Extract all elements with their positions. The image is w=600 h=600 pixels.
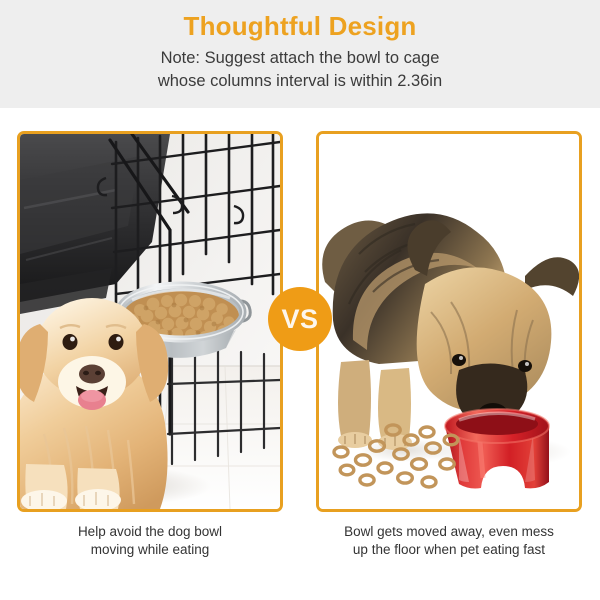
caption-right: Bowl gets moved away, even mess up the f… (313, 523, 585, 559)
loose-red-bowl-illustration (319, 134, 579, 509)
caption-right-line-2: up the floor when pet eating fast (313, 541, 585, 559)
product-comparison-infographic: Thoughtful Design Note: Suggest attach t… (0, 0, 600, 600)
page-title: Thoughtful Design (0, 11, 600, 42)
header-note-line-1: Note: Suggest attach the bowl to cage (0, 47, 600, 70)
caption-left: Help avoid the dog bowl moving while eat… (14, 523, 286, 559)
caption-right-line-1: Bowl gets moved away, even mess (313, 523, 585, 541)
vs-badge: VS (268, 287, 332, 351)
header-note-line-2: whose columns interval is within 2.36in (0, 70, 600, 93)
caption-left-line-1: Help avoid the dog bowl (14, 523, 286, 541)
vs-badge-label: VS (281, 306, 318, 333)
caption-left-line-2: moving while eating (14, 541, 286, 559)
header-note: Note: Suggest attach the bowl to cage wh… (0, 47, 600, 93)
cage-mounted-bowl-illustration (20, 134, 280, 509)
comparison-panel-left (17, 131, 283, 512)
comparison-panel-right (316, 131, 582, 512)
